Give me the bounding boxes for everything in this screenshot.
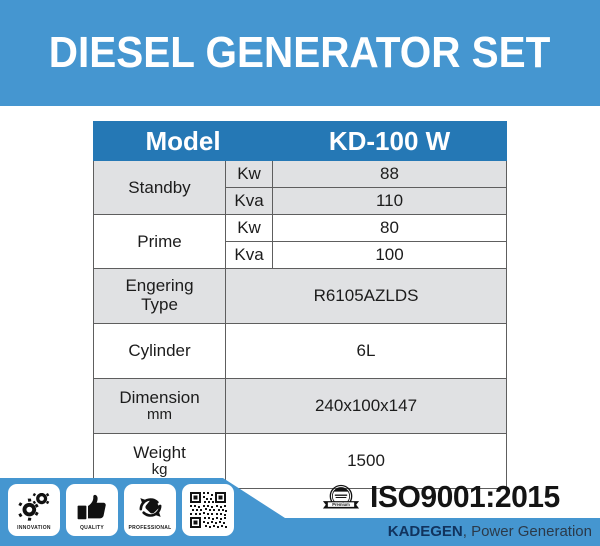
row-label-main: Dimension xyxy=(94,389,225,408)
table-header-row: Model KD-100 W xyxy=(94,122,507,161)
page-title: DIESEL GENERATOR SET xyxy=(49,31,551,75)
badge-professional: PROFESSIONAL xyxy=(124,484,176,536)
unit-cell: Kva xyxy=(226,188,273,215)
value-cell: 88 xyxy=(273,161,507,188)
row-label-main: Weight xyxy=(94,444,225,463)
fist-arrows-icon xyxy=(133,493,167,523)
row-label-engering-type: Engering Type xyxy=(94,269,226,324)
header-label-cell: Model xyxy=(94,122,273,161)
trust-badges: INNOVATION QUALITY xyxy=(8,484,234,536)
table-row: Standby Kw 88 xyxy=(94,161,507,188)
row-label-standby: Standby xyxy=(94,161,226,215)
iso-label: ISO9001:2015 xyxy=(370,481,560,512)
value-cell: R6105AZLDS xyxy=(226,269,507,324)
value-cell: 240x100x147 xyxy=(226,379,507,434)
row-label-cylinder: Cylinder xyxy=(94,324,226,379)
svg-text:Premium: Premium xyxy=(332,502,350,507)
badge-innovation: INNOVATION xyxy=(8,484,60,536)
value-cell: 100 xyxy=(273,242,507,269)
top-banner: DIESEL GENERATOR SET xyxy=(0,0,600,106)
badge-label: INNOVATION xyxy=(17,525,51,531)
certification-seal-icon: Premium xyxy=(318,482,364,512)
row-label-prime: Prime xyxy=(94,215,226,269)
table-row: Dimension mm 240x100x147 xyxy=(94,379,507,434)
unit-cell: Kw xyxy=(226,161,273,188)
gears-icon xyxy=(17,493,51,523)
row-label-main: Engering xyxy=(94,277,225,296)
thumbs-up-icon xyxy=(75,493,109,523)
qr-code-badge xyxy=(182,484,234,536)
badge-label: QUALITY xyxy=(80,525,104,531)
qr-code-icon xyxy=(187,489,229,531)
spec-table-container: Model KD-100 W Standby Kw 88 Kva 110 Pri… xyxy=(93,121,506,489)
row-label-dimension: Dimension mm xyxy=(94,379,226,434)
table-row: Cylinder 6L xyxy=(94,324,507,379)
table-row: Engering Type R6105AZLDS xyxy=(94,269,507,324)
table-row: Prime Kw 80 xyxy=(94,215,507,242)
value-cell: 110 xyxy=(273,188,507,215)
unit-cell: Kva xyxy=(226,242,273,269)
value-cell: 6L xyxy=(226,324,507,379)
header-value-cell: KD-100 W xyxy=(273,122,507,161)
row-label-secondary: Type xyxy=(94,296,225,315)
company-signature: KADEGEN, Power Generation xyxy=(388,522,592,542)
row-label-unit: kg xyxy=(94,462,225,478)
value-cell: 80 xyxy=(273,215,507,242)
badge-label: PROFESSIONAL xyxy=(128,525,171,531)
badge-quality: QUALITY xyxy=(66,484,118,536)
company-tagline: , Power Generation xyxy=(463,523,592,540)
spec-table: Model KD-100 W Standby Kw 88 Kva 110 Pri… xyxy=(93,121,507,489)
iso-certification: Premium ISO9001:2015 xyxy=(318,481,566,512)
unit-cell: Kw xyxy=(226,215,273,242)
company-name: KADEGEN xyxy=(388,523,463,540)
row-label-unit: mm xyxy=(94,407,225,423)
